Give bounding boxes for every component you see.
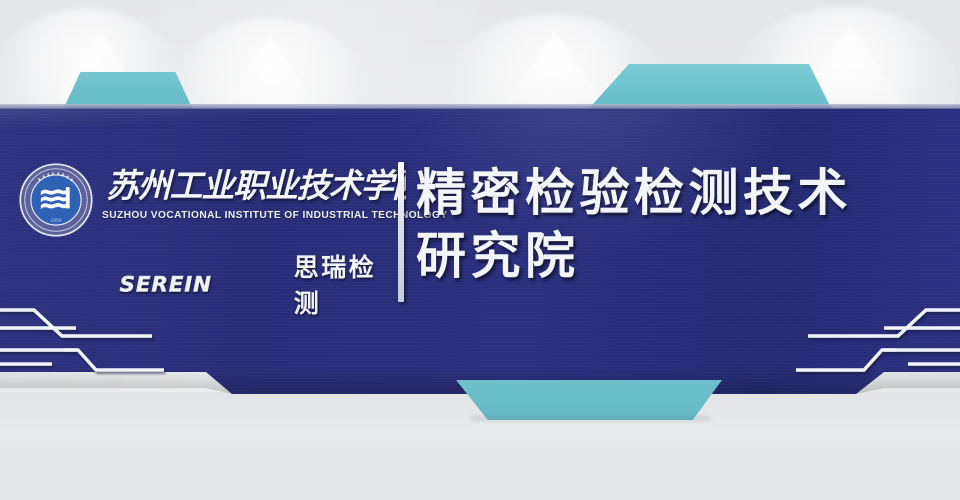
vertical-divider [398,162,404,302]
page-title-line-1: 精密检验检测技术 [416,162,946,225]
teal-trapezoid-bottom-center [456,380,722,420]
panel-top-edge [0,104,960,109]
serein-wordmark-icon: SEREIN [118,269,280,299]
institution-logo-block: 1956 苏州工业职业技术学院 SUZHOU VOCATIONAL INSTIT… [18,160,390,290]
school-crest-icon: 1956 [18,162,94,238]
page-title: 精密检验检测技术 研究院 [416,162,946,288]
serein-wordmark-text: SEREIN [120,273,212,298]
signage-scene: 1956 苏州工业职业技术学院 SUZHOU VOCATIONAL INSTIT… [0,0,960,500]
teal-bottom-shadow [470,416,710,421]
school-name-cn-art: 苏州工业职业技术学院 [106,160,406,208]
school-name-en: SUZHOU VOCATIONAL INSTITUTE OF INDUSTRIA… [102,210,408,221]
school-name-cn-text: 苏州工业职业技术学院 [106,166,406,205]
page-title-line-2: 研究院 [416,225,946,288]
school-name-cn: 苏州工业职业技术学院 [106,160,406,208]
partner-logo-lockup: SEREIN 思瑞检测 [118,248,390,320]
partner-name-cn: 思瑞检测 [294,248,390,320]
svg-text:1956: 1956 [51,217,62,223]
